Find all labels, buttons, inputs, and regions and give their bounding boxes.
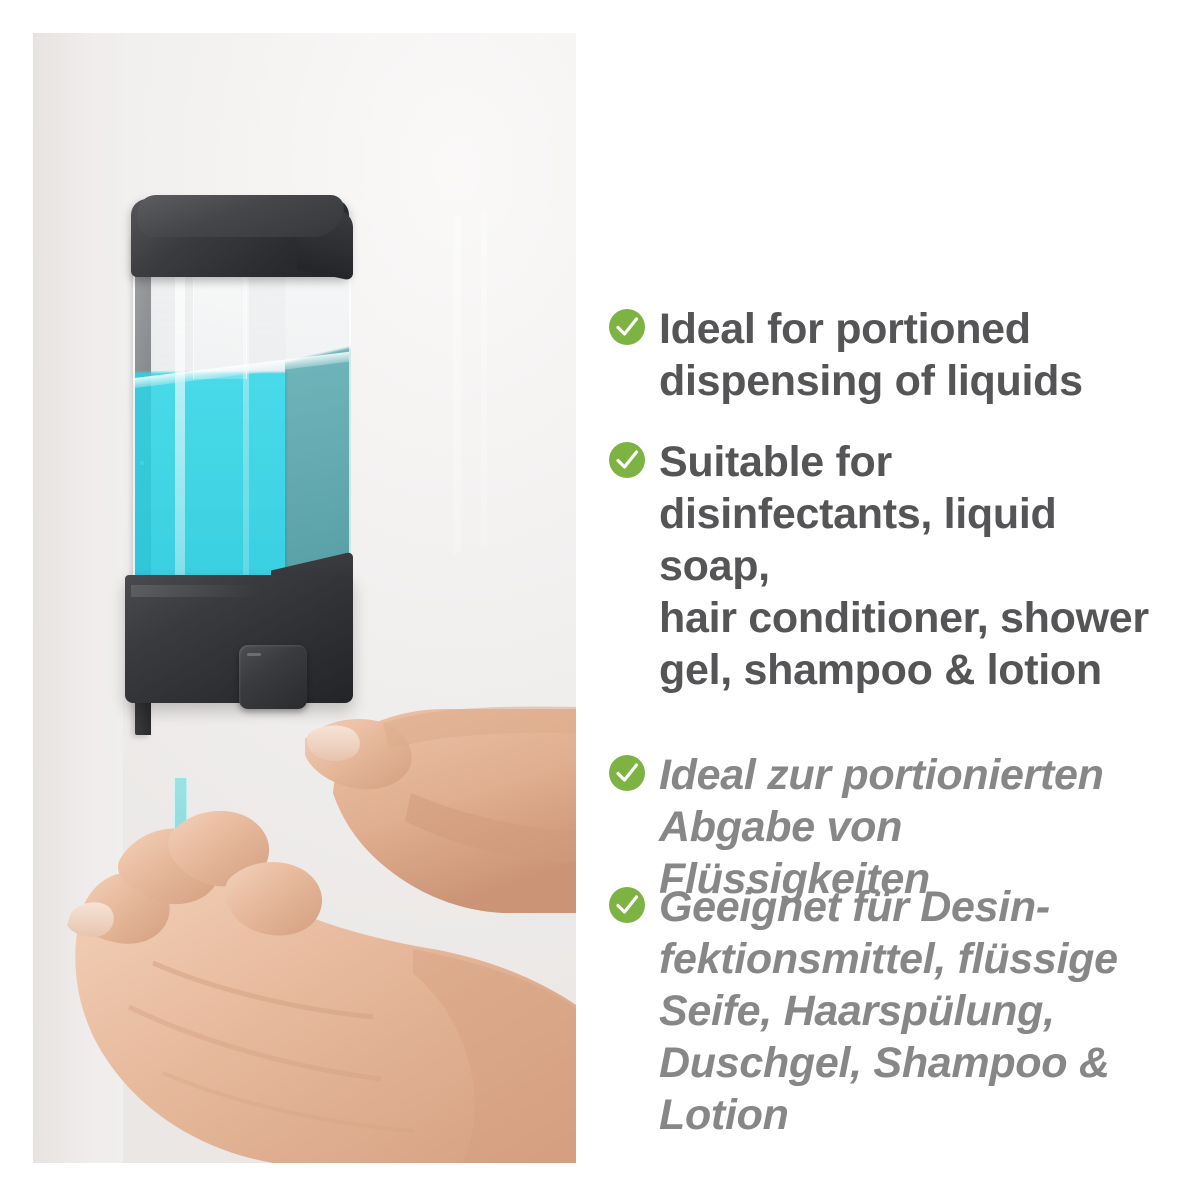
fingernail [67, 902, 114, 937]
feature-line: Lotion [659, 1091, 789, 1139]
check-circle-icon [608, 754, 646, 792]
feature-list: Ideal for portioned dispensing of liquid… [600, 0, 1200, 1200]
feature-line: Suitable for [659, 438, 892, 486]
check-circle-icon [608, 308, 646, 346]
feature-line: Geeignet für Desin- [659, 883, 1050, 931]
base-highlight [131, 585, 261, 597]
feature-line: Ideal for portioned [659, 305, 1031, 353]
feature-line: fektionsmittel, flüssige [659, 935, 1118, 983]
feature-line: dispensing of liquids [659, 357, 1083, 405]
feature-item-de-2: Geeignet für Desin- fektionsmittel, flüs… [608, 881, 1168, 1141]
dispenser-cap-top [135, 195, 345, 237]
product-feature-card: Ideal for portioned dispensing of liquid… [0, 0, 1200, 1200]
feature-text: Geeignet für Desin- fektionsmittel, flüs… [659, 881, 1118, 1141]
pressing-hand [305, 707, 576, 913]
feature-line: Ideal zur portionierten [659, 751, 1104, 799]
feature-line: hair conditioner, shower [659, 594, 1149, 642]
feature-text: Ideal for portioned dispensing of liquid… [659, 303, 1083, 407]
check-circle-icon [608, 441, 646, 479]
button-notch-icon [247, 653, 261, 656]
feature-line: disinfectants, liquid soap, [659, 490, 1056, 590]
check-circle-icon [608, 886, 646, 924]
feature-text: Suitable for disinfectants, liquid soap,… [659, 436, 1168, 696]
feature-item-en-2: Suitable for disinfectants, liquid soap,… [608, 436, 1168, 696]
feature-line: gel, shampoo & lotion [659, 646, 1102, 694]
feature-line: Duschgel, Shampoo & [659, 1039, 1110, 1087]
feature-line: Seife, Haarspülung, [659, 987, 1055, 1035]
feature-item-en-1: Ideal for portioned dispensing of liquid… [608, 303, 1168, 407]
product-photo [33, 33, 576, 1163]
